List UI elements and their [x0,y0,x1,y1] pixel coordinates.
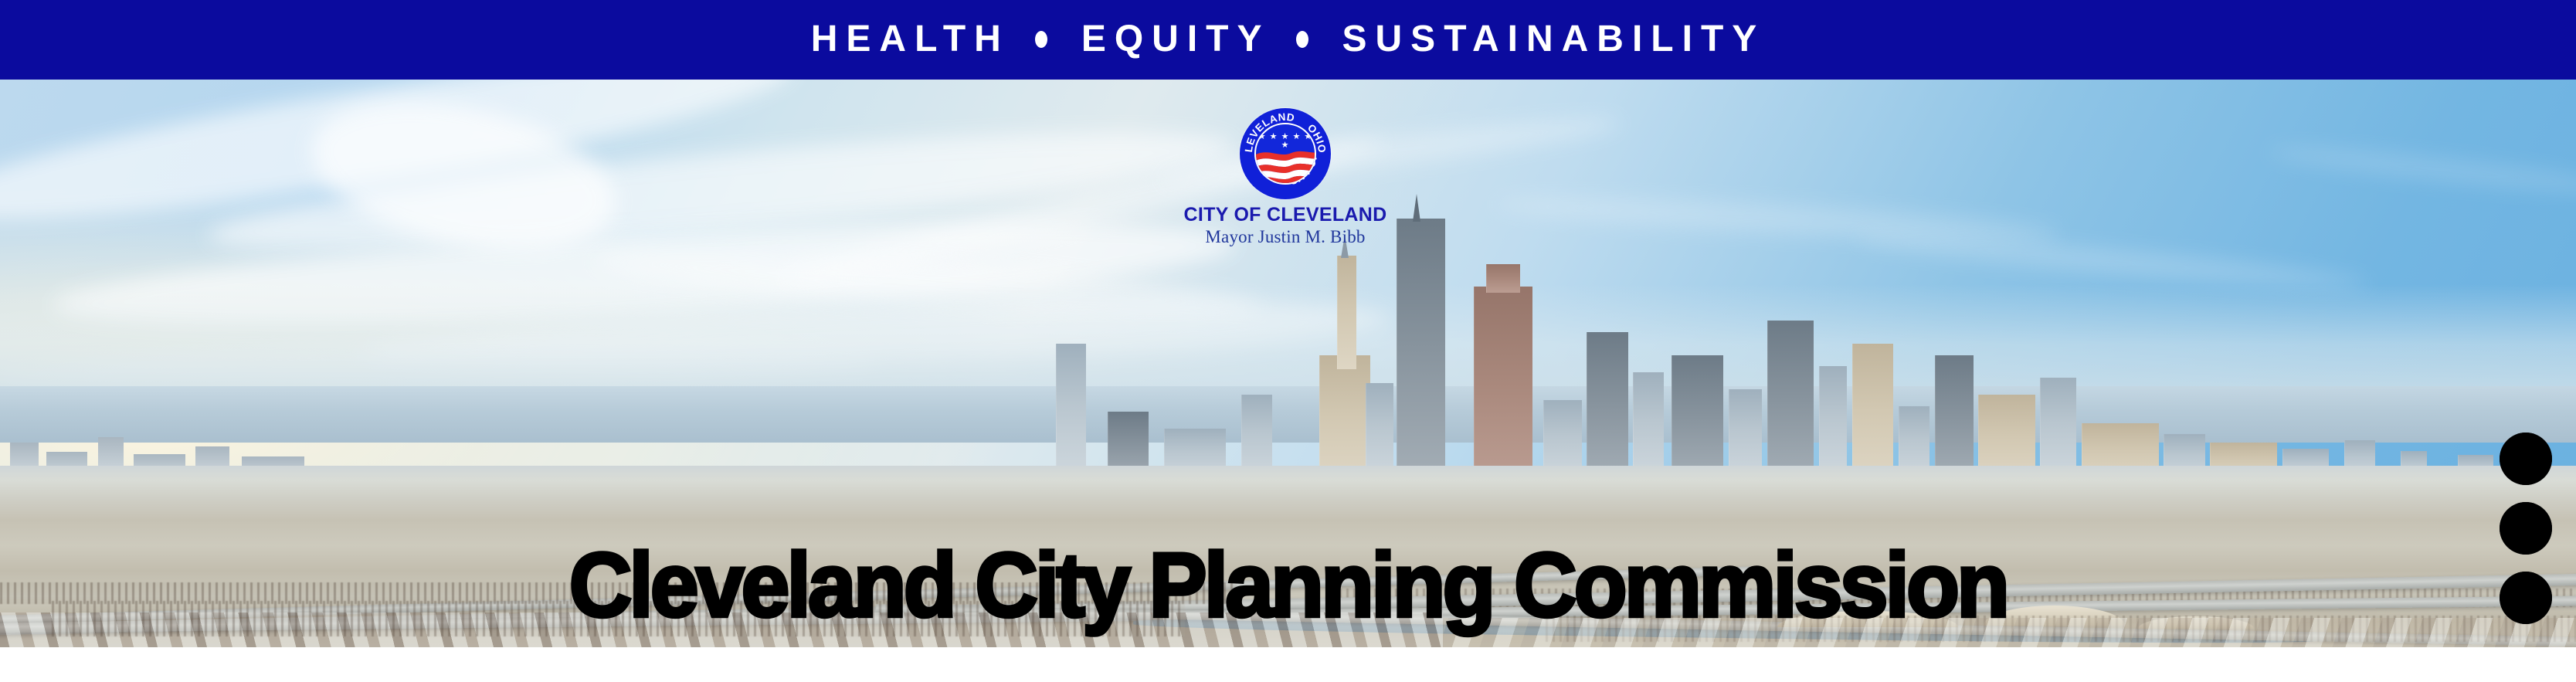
city-of-cleveland-seal-icon: CLEVELAND OHIO CITY OF ★ ★ ★ ★ ★ ★ [1240,108,1331,199]
building-tower [1056,344,1085,480]
building-key-tower [1397,219,1445,480]
snowy-river-valley [0,466,2576,647]
logo-city-name: CITY OF CLEVELAND [1184,205,1387,225]
hero-photo-cleveland-skyline: CLEVELAND OHIO CITY OF ★ ★ ★ ★ ★ ★ [0,80,2576,647]
building-crown [1486,264,1519,293]
facebook-icon [2500,572,2552,624]
building [1852,344,1893,480]
building-terminal-tower-base [1319,355,1371,480]
social-link-facebook[interactable] [2500,572,2552,624]
social-link-instagram[interactable] [2500,502,2552,555]
industrial-rooftops [1443,618,2576,647]
tagline-inner: HEALTH EQUITY SUSTAINABILITY [811,21,1766,58]
logo-mayor-name: Mayor Justin M. Bibb [1205,228,1365,246]
seal-inner-disc: ★ ★ ★ ★ ★ ★ [1254,123,1316,185]
bottom-white-strip [0,647,2576,682]
instagram-icon [2500,502,2552,555]
youtube-icon [2500,433,2552,485]
building [1633,372,1664,480]
tagline-word-sustainability: SUSTAINABILITY [1342,21,1766,58]
city-of-cleveland-logo[interactable]: CLEVELAND OHIO CITY OF ★ ★ ★ ★ ★ ★ [1092,108,1478,246]
building [1672,355,1723,480]
building [1819,366,1848,480]
tagline-word-health: HEALTH [811,21,1010,58]
tagline-word-equity: EQUITY [1081,21,1271,58]
building [2040,378,2076,480]
building-200-public-square [1474,287,1533,480]
page-root: HEALTH EQUITY SUSTAINABILITY [0,0,2576,682]
social-media-rail [2500,433,2552,624]
building [1767,321,1814,480]
social-link-youtube[interactable] [2500,433,2552,485]
building-terminal-tower [1337,256,1356,369]
bullet-dot-icon [1296,31,1308,48]
tagline-bar: HEALTH EQUITY SUSTAINABILITY [0,0,2576,80]
bare-trees [52,601,1185,636]
bullet-dot-icon [1035,31,1047,48]
waving-us-flag-icon [1254,144,1316,185]
building [1935,355,1974,480]
building [1587,332,1627,480]
